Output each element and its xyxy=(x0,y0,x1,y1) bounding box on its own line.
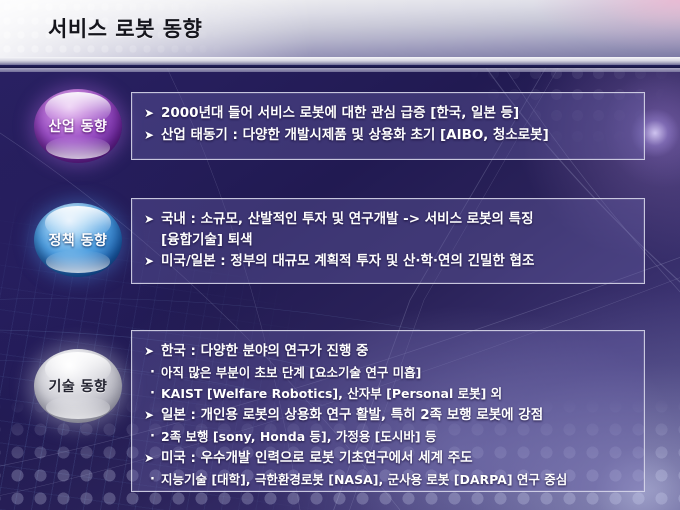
bullet-line: ➤미국 : 우수개발 인력으로 로봇 기초연구에서 세계 주도 xyxy=(144,447,634,469)
bullet-text: 아직 많은 부분이 초보 단계 [요소기술 연구 미흡] xyxy=(161,362,634,383)
badge-policy-label: 정책 동향 xyxy=(49,230,108,250)
badge-industry[interactable]: 산업 동향 xyxy=(34,89,122,163)
bullet-list-industry: ➤2000년대 들어 서비스 로봇에 대한 관심 급증 [한국, 일본 등]➤산… xyxy=(144,102,634,146)
arrow-bullet-icon: ➤ xyxy=(144,250,161,272)
bullet-text: 국내 : 소규모, 산발적인 투자 및 연구개발 -> 서비스 로봇의 특징 xyxy=(161,208,634,230)
arrow-bullet-icon: ➤ xyxy=(144,340,161,362)
bullet-line: ·KAIST [Welfare Robotics], 산자부 [Personal… xyxy=(144,383,634,404)
bullet-text: 지능기술 [대학], 극한환경로봇 [NASA], 군사용 로봇 [DARPA]… xyxy=(161,469,634,490)
page-title: 서비스 로봇 동향 xyxy=(48,13,202,43)
bullet-line: ➤미국/일본 : 정부의 대규모 계획적 투자 및 산·학·연의 긴밀한 협조 xyxy=(144,250,634,272)
dot-bullet-icon: · xyxy=(144,469,161,490)
bullet-text: 미국 : 우수개발 인력으로 로봇 기초연구에서 세계 주도 xyxy=(161,447,634,469)
bullet-line: ·아직 많은 부분이 초보 단계 [요소기술 연구 미흡] xyxy=(144,362,634,383)
sphere-reflection xyxy=(46,396,109,418)
arrow-bullet-icon: ➤ xyxy=(144,404,161,426)
dot-bullet-icon: · xyxy=(144,383,161,404)
badge-tech-label: 기술 동향 xyxy=(49,376,108,396)
badge-policy[interactable]: 정책 동향 xyxy=(34,203,122,277)
bullet-text: KAIST [Welfare Robotics], 산자부 [Personal … xyxy=(161,383,634,404)
presentation-slide: 서비스 로봇 동향 산업 동향 정책 동향 기술 동향 ➤2000년대 들어 서… xyxy=(0,0,680,510)
title-silver-band xyxy=(0,57,680,65)
content-box-industry: ➤2000년대 들어 서비스 로봇에 대한 관심 급증 [한국, 일본 등]➤산… xyxy=(131,92,645,160)
bullet-text: 일본 : 개인용 로봇의 상용화 연구 활발, 특히 2족 보행 로봇에 강점 xyxy=(161,404,634,426)
bullet-line: [융합기술] 퇴색 xyxy=(144,230,634,250)
content-box-tech: ➤한국 : 다양한 분야의 연구가 진행 중·아직 많은 부분이 초보 단계 [… xyxy=(131,330,645,492)
dot-bullet-icon: · xyxy=(144,426,161,447)
bullet-line: ➤산업 태동기 : 다양한 개발시제품 및 상용화 초기 [AIBO, 청소로봇… xyxy=(144,124,634,146)
title-underline xyxy=(0,68,680,72)
sphere-reflection xyxy=(46,250,109,272)
bullet-line: ➤한국 : 다양한 분야의 연구가 진행 중 xyxy=(144,340,634,362)
arrow-bullet-icon: ➤ xyxy=(144,208,161,230)
bullet-text: 한국 : 다양한 분야의 연구가 진행 중 xyxy=(161,340,634,362)
bullet-text: 산업 태동기 : 다양한 개발시제품 및 상용화 초기 [AIBO, 청소로봇] xyxy=(161,124,634,146)
arrow-bullet-icon: ➤ xyxy=(144,102,161,124)
badge-industry-label: 산업 동향 xyxy=(49,116,108,136)
bullet-line: ➤일본 : 개인용 로봇의 상용화 연구 활발, 특히 2족 보행 로봇에 강점 xyxy=(144,404,634,426)
bullet-line: ➤국내 : 소규모, 산발적인 투자 및 연구개발 -> 서비스 로봇의 특징 xyxy=(144,208,634,230)
content-box-policy: ➤국내 : 소규모, 산발적인 투자 및 연구개발 -> 서비스 로봇의 특징[… xyxy=(131,198,645,284)
dot-bullet-icon: · xyxy=(144,362,161,383)
bullet-text: 2000년대 들어 서비스 로봇에 대한 관심 급증 [한국, 일본 등] xyxy=(161,102,634,124)
bullet-list-tech: ➤한국 : 다양한 분야의 연구가 진행 중·아직 많은 부분이 초보 단계 [… xyxy=(144,340,634,490)
bullet-text: 미국/일본 : 정부의 대규모 계획적 투자 및 산·학·연의 긴밀한 협조 xyxy=(161,250,634,272)
bullet-line: ·2족 보행 [sony, Honda 등], 가정용 [도시바] 등 xyxy=(144,426,634,447)
bullet-line: ➤2000년대 들어 서비스 로봇에 대한 관심 급증 [한국, 일본 등] xyxy=(144,102,634,124)
bullet-list-policy: ➤국내 : 소규모, 산발적인 투자 및 연구개발 -> 서비스 로봇의 특징[… xyxy=(144,208,634,272)
badge-tech[interactable]: 기술 동향 xyxy=(34,349,122,423)
sphere-reflection xyxy=(46,136,109,158)
bullet-text: 2족 보행 [sony, Honda 등], 가정용 [도시바] 등 xyxy=(161,426,634,447)
bullet-text: [융합기술] 퇴색 xyxy=(161,230,634,250)
bullet-line: ·지능기술 [대학], 극한환경로봇 [NASA], 군사용 로봇 [DARPA… xyxy=(144,469,634,490)
arrow-bullet-icon: ➤ xyxy=(144,447,161,469)
arrow-bullet-icon: ➤ xyxy=(144,124,161,146)
